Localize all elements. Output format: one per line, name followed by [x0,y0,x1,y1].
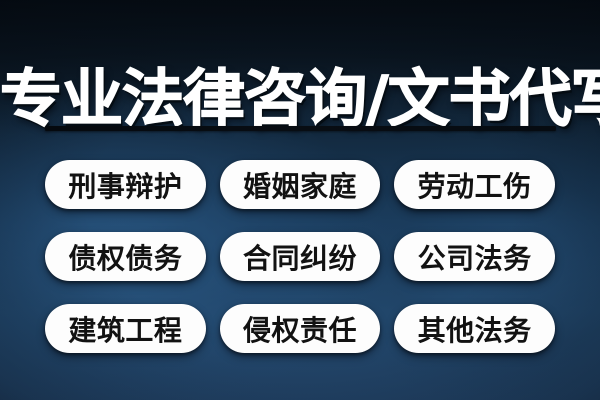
service-pill-creditor-debt[interactable]: 债权债务 [45,232,206,281]
service-pill-marriage-family[interactable]: 婚姻家庭 [220,160,381,209]
service-pill-contract-dispute[interactable]: 合同纠纷 [220,232,381,281]
service-pill-row-2: 债权债务 合同纠纷 公司法务 [45,232,555,281]
service-pill-row-1: 刑事辩护 婚姻家庭 劳动工伤 [45,160,555,209]
service-pill-other-legal[interactable]: 其他法务 [394,304,555,353]
legal-services-poster: 专业法律咨询/文书代写 刑事辩护 婚姻家庭 劳动工伤 债权债务 合同纠纷 公司法… [0,0,600,400]
poster-headline: 专业法律咨询/文书代写 [0,68,600,130]
service-pill-row-3: 建筑工程 侵权责任 其他法务 [45,304,555,353]
headline-divider [45,126,556,131]
service-pill-corporate-legal[interactable]: 公司法务 [394,232,555,281]
service-pill-tort-liability[interactable]: 侵权责任 [220,304,381,353]
service-pill-grid: 刑事辩护 婚姻家庭 劳动工伤 债权债务 合同纠纷 公司法务 建筑工程 侵权责任 … [45,160,555,353]
poster-content: 专业法律咨询/文书代写 刑事辩护 婚姻家庭 劳动工伤 债权债务 合同纠纷 公司法… [0,0,600,400]
service-pill-construction-engineering[interactable]: 建筑工程 [45,304,206,353]
service-pill-criminal-defense[interactable]: 刑事辩护 [45,160,206,209]
service-pill-labor-injury[interactable]: 劳动工伤 [394,160,555,209]
